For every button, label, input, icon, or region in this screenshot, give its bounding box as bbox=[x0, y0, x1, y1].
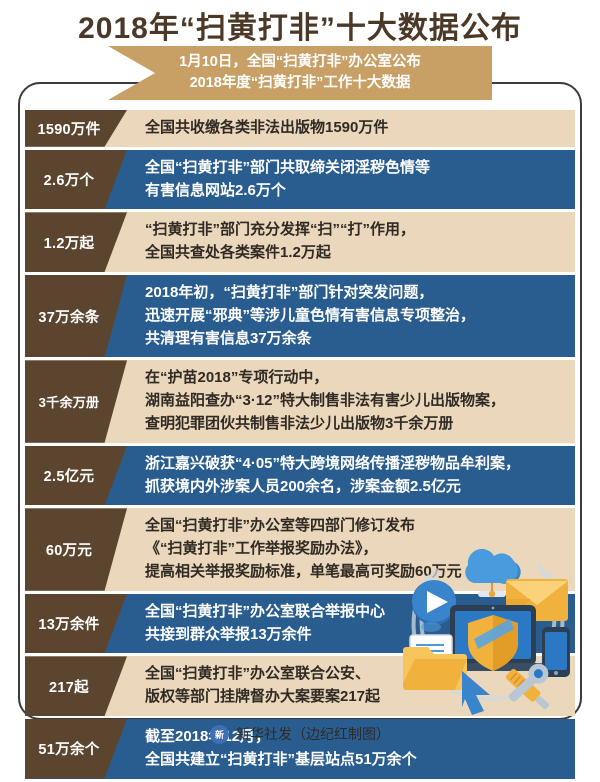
row-metric-label: 2.5亿元 bbox=[25, 446, 127, 506]
list-item: 37万余条 2018年初，“扫黄打非”部门针对突发问题， 迅速开展“邪典”等涉儿… bbox=[25, 275, 575, 357]
list-item: 2.6万个 全国“扫黄打非”部门共取缔关闭淫秽色情等 有害信息网站2.6万个 bbox=[25, 150, 575, 210]
row-metric-label: 13万余件 bbox=[25, 594, 127, 654]
subtitle-ribbon: 1月10日，全国“扫黄打非”办公室公布 2018年度“扫黄打非”工作十大数据 bbox=[108, 46, 492, 100]
subtitle-line-2: 2018年度“扫黄打非”工作十大数据 bbox=[190, 73, 411, 94]
footer-credit: 新 新华社发（边纪红制图） bbox=[0, 719, 600, 749]
row-metric-label: 2.6万个 bbox=[25, 150, 127, 210]
list-item: 1.2万起 “扫黄打非”部门充分发挥“扫”“打”作用， 全国共查处各类案件1.2… bbox=[25, 212, 575, 272]
row-metric-label: 37万余条 bbox=[25, 275, 127, 357]
row-description: 全国“扫黄打非”办公室联合举报中心 共接到群众举报13万余件 bbox=[127, 594, 575, 654]
credit-text: 新华社发（边纪红制图） bbox=[236, 724, 390, 744]
xinhua-logo-icon: 新 bbox=[210, 725, 229, 744]
row-description: 2018年初，“扫黄打非”部门针对突发问题， 迅速开展“邪典”等涉儿童色情有害信… bbox=[127, 275, 575, 357]
row-description: 全国“扫黄打非”部门共取缔关闭淫秽色情等 有害信息网站2.6万个 bbox=[127, 150, 575, 210]
page-title: 2018年“扫黄打非”十大数据公布 bbox=[78, 3, 522, 47]
row-description: 全国“扫黄打非”办公室等四部门修订发布 《“扫黄打非”工作举报奖励办法》， 提高… bbox=[127, 508, 575, 590]
list-item: 3千余万册 在“护苗2018”专项行动中， 湖南益阳查办“3·12”特大制售非法… bbox=[25, 360, 575, 442]
title-area: 2018年“扫黄打非”十大数据公布 bbox=[0, 0, 600, 46]
row-description: 在“护苗2018”专项行动中， 湖南益阳查办“3·12”特大制售非法有害少儿出版… bbox=[127, 360, 575, 442]
row-description: “扫黄打非”部门充分发挥“扫”“打”作用， 全国共查处各类案件1.2万起 bbox=[127, 212, 575, 272]
row-metric-label: 1.2万起 bbox=[25, 212, 127, 272]
row-metric-label: 1590万件 bbox=[25, 110, 127, 147]
list-item: 2.5亿元 浙江嘉兴破获“4·05”特大跨境网络传播淫秽物品牟利案， 抓获境内外… bbox=[25, 446, 575, 506]
list-item: 13万余件 全国“扫黄打非”办公室联合举报中心 共接到群众举报13万余件 bbox=[25, 594, 575, 654]
list-item: 217起 全国“扫黄打非”办公室联合公安、 版权等部门挂牌督办大案要案217起 bbox=[25, 656, 575, 716]
row-description: 全国“扫黄打非”办公室联合公安、 版权等部门挂牌督办大案要案217起 bbox=[127, 656, 575, 716]
row-description: 浙江嘉兴破获“4·05”特大跨境网络传播淫秽物品牟利案， 抓获境内外涉案人员20… bbox=[127, 446, 575, 506]
list-item: 1590万件 全国共收缴各类非法出版物1590万件 bbox=[25, 110, 575, 147]
subtitle-line-1: 1月10日，全国“扫黄打非”办公室公布 bbox=[179, 52, 421, 73]
row-metric-label: 3千余万册 bbox=[25, 360, 127, 442]
row-metric-label: 60万元 bbox=[25, 508, 127, 590]
row-description: 全国共收缴各类非法出版物1590万件 bbox=[127, 110, 575, 147]
data-list: 1590万件 全国共收缴各类非法出版物1590万件 2.6万个 全国“扫黄打非”… bbox=[25, 110, 575, 782]
list-item: 60万元 全国“扫黄打非”办公室等四部门修订发布 《“扫黄打非”工作举报奖励办法… bbox=[25, 508, 575, 590]
row-metric-label: 217起 bbox=[25, 656, 127, 716]
